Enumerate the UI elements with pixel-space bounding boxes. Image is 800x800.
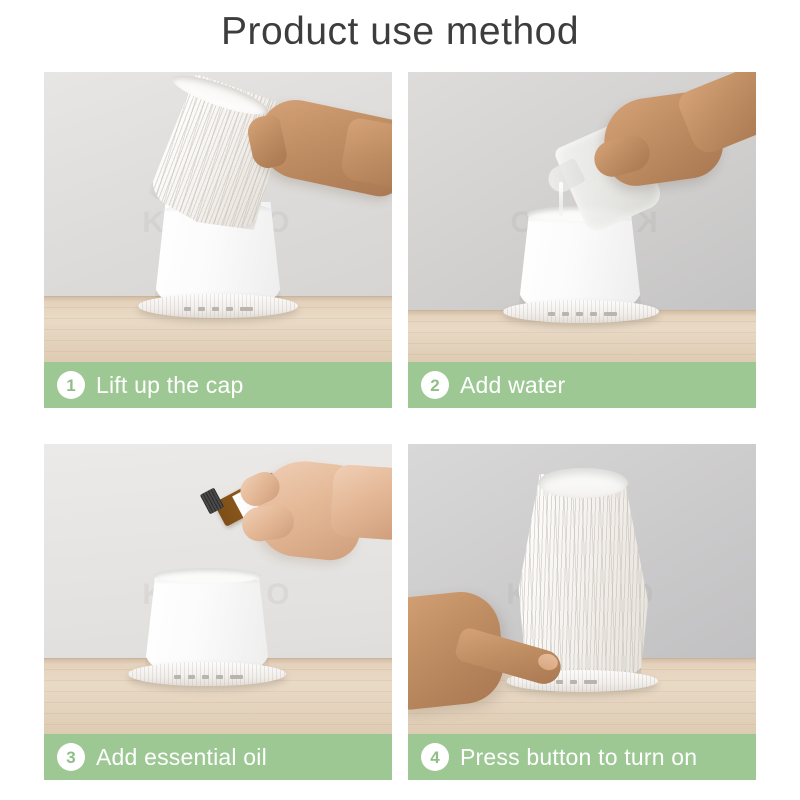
step-label: Add essential oil [96,744,267,771]
step-photo-3: KBAYDO [44,444,392,734]
step-caption-1: 1 Lift up the cap [44,362,392,408]
step-number-badge: 1 [57,371,85,399]
diffuser-base [144,574,270,674]
diffuser-control-buttons [548,312,617,316]
step-label: Lift up the cap [96,372,244,399]
step-number-badge: 3 [57,743,85,771]
step-card-3: KBAYDO 3 Add essenti [44,444,392,780]
diffuser-bottom-plate [128,662,286,686]
step-photo-4: KBAYDO [408,444,756,734]
tank-opening [153,568,261,584]
step-caption-3: 3 Add essential oil [44,734,392,780]
diffuser-bottom-plate [138,294,298,318]
diffuser-control-buttons [184,307,253,311]
diffuser-control-buttons [556,680,597,684]
page-title: Product use method [0,8,800,56]
step-number-badge: 4 [421,743,449,771]
step-caption-4: 4 Press button to turn on [408,734,756,780]
step-label: Add water [460,372,565,399]
step-photo-1: KBAYDO [44,72,392,362]
step-card-4: KBAYDO 4 Press button to turn on [408,444,756,780]
step-number-badge: 2 [421,371,449,399]
step-label: Press button to turn on [460,744,697,771]
diffuser-control-buttons [174,675,243,679]
step-caption-2: 2 Add water [408,362,756,408]
step-photo-2: KBAYDO [408,72,756,362]
product-instruction-image: Product use method KBAYDO [0,0,800,800]
diffuser-base [518,212,642,312]
steps-grid: KBAYDO 1 Lift up the cap [44,72,756,780]
step-card-2: KBAYDO 2 Add water [408,72,756,408]
water-stream [559,182,563,216]
wrist [330,464,392,540]
step-card-1: KBAYDO 1 Lift up the cap [44,72,392,408]
diffuser-top-opening [538,468,628,498]
